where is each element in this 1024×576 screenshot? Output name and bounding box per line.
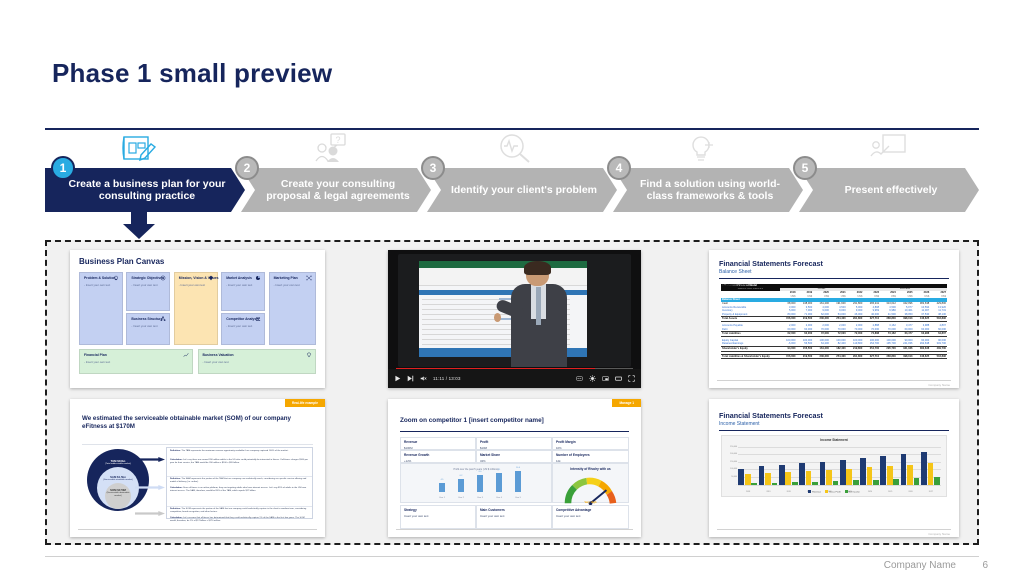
chart-bar	[901, 454, 907, 485]
chart-legend-item: Gross Profit	[825, 490, 841, 494]
balance-sheet-footer: Company Name	[928, 383, 950, 387]
chart-bar	[928, 463, 934, 485]
balance-sheet-divider	[719, 278, 949, 279]
video-wall	[398, 254, 631, 367]
chart-bar	[812, 482, 818, 485]
settings-icon[interactable]	[589, 375, 596, 382]
chart-bar	[738, 469, 744, 485]
competitor-gauge: Intensity of Rivalry with us Very High	[552, 463, 629, 503]
process-step-4-label: Find a solution using world-class framew…	[631, 178, 789, 203]
som-def-5: Definition: The SOM represents the porti…	[170, 508, 309, 514]
chart-y-tick: 150,000	[730, 461, 737, 463]
bpc-grid: Problem & Solution - Insert your own tex…	[79, 272, 316, 374]
video-timestamp: 11:11 / 13:03	[433, 376, 461, 381]
chart-bar	[772, 483, 778, 485]
som-title: We estimated the serviceable obtainable …	[82, 415, 311, 431]
chart-bar	[785, 472, 791, 485]
bpc-card-business-valuation[interactable]: Business Valuation - Insert your own tex…	[198, 349, 317, 375]
balance-sheet-table: 3 Statement Financial ModelBalance sheet…	[721, 284, 947, 359]
chart-bar	[880, 456, 886, 485]
chart-bar-group: 2021	[799, 447, 819, 485]
chart-title: Income Statement	[722, 438, 946, 442]
bpc-card-strategic-objectives[interactable]: Strategic Objectives - Insert your own t…	[126, 272, 170, 311]
process-bar: Create a business plan for your consulti…	[45, 168, 979, 212]
chart-legend-item: Revenue	[808, 490, 821, 494]
som-def-2: Calculation: Let's say there are around …	[170, 459, 309, 465]
process-step-4[interactable]: Find a solution using world-class framew…	[613, 168, 803, 212]
chart-bar	[853, 480, 859, 485]
process-step-2-label: Create your consulting proposal & legal …	[259, 178, 417, 203]
chart-bar	[779, 465, 785, 485]
network-icon	[306, 275, 312, 281]
chart-bar	[887, 466, 893, 485]
chart-bar	[799, 463, 805, 485]
arrow-som-icon	[132, 511, 168, 516]
chart-bar-group: 2025	[880, 447, 900, 485]
chart-bar-group: 2020	[779, 447, 799, 485]
balance-sheet-subtitle: Balance Sheet	[719, 269, 752, 275]
note-competitive-advantage: Competitive Advantage Insert your own te…	[552, 505, 629, 529]
note-main-customers: Main Customers Insert your own text	[476, 505, 552, 529]
bpc-card-marketing-plan[interactable]: Marketing Plan - Insert your own text	[269, 272, 316, 345]
chart-bar	[820, 462, 826, 485]
chart-legend: RevenueGross ProfitNet Income	[722, 490, 946, 494]
footer-company-name: Company Name	[884, 560, 956, 571]
chart-bar	[759, 466, 765, 485]
presenter-figure	[508, 263, 571, 367]
org-chart-icon	[160, 316, 166, 322]
competitor-bar-label: Year 1	[436, 497, 448, 499]
som-tag: Real-life example	[285, 399, 325, 407]
process-step-5-label: Present effectively	[845, 184, 938, 197]
title-divider	[45, 128, 979, 130]
competitor-bar-label: Year 3	[474, 497, 486, 499]
chart-y-tick: 250,000	[730, 446, 737, 448]
footer-divider	[45, 556, 979, 557]
table-row: Shareholder's Equity	[721, 284, 769, 359]
line-chart-icon	[183, 352, 189, 358]
people-question-icon: ?	[313, 132, 349, 164]
arrow-sam-icon	[132, 485, 168, 490]
competitor-bar-label: Year 5	[512, 497, 524, 499]
income-statement-title: Financial Statements Forecast	[719, 411, 823, 420]
arrow-tam-icon	[132, 457, 168, 462]
chart-bar	[792, 482, 798, 485]
bpc-card-problem-solution[interactable]: Problem & Solution - Insert your own tex…	[79, 272, 123, 345]
video-frame[interactable]: 11:11 / 13:03	[388, 250, 641, 388]
process-step-3[interactable]: Identify your client's problem	[427, 168, 617, 212]
chart-bar	[833, 481, 839, 485]
metric-profit-margin: Profit Margin 10%	[552, 437, 629, 450]
chart-bar	[921, 452, 927, 485]
som-def-6: Calculation: Let's assume that eFitness …	[170, 517, 309, 523]
next-icon[interactable]	[407, 375, 414, 382]
gem-icon	[306, 352, 312, 358]
chart-bar	[751, 483, 757, 485]
competitor-bar: 10.0	[515, 471, 521, 492]
chart-y-tick: 100,000	[730, 468, 737, 470]
chart-bar-group: 2019	[758, 447, 778, 485]
process-step-3-label: Identify your client's problem	[451, 184, 597, 197]
bpc-card-business-structure[interactable]: Business Structure - Insert your own tex…	[126, 313, 170, 346]
chart-bar	[867, 467, 873, 485]
people-icon	[255, 316, 261, 322]
pie-chart-icon	[255, 275, 261, 281]
diamond-icon	[208, 275, 214, 281]
competitor-bar-label: Year 2	[455, 497, 467, 499]
fullscreen-icon[interactable]	[628, 375, 635, 382]
competitor-bar: 8.0	[477, 475, 483, 492]
som-def-1: Definition: The TAM represents the maxim…	[170, 450, 309, 453]
competitor-bar: 6.2	[458, 479, 464, 492]
page-title: Phase 1 small preview	[52, 58, 332, 89]
chart-y-tick: 200,000	[730, 453, 737, 455]
process-step-1[interactable]: Create a business plan for your consulti…	[45, 168, 245, 212]
chart-bar	[873, 480, 879, 485]
chart-bar-group: 2026	[900, 447, 920, 485]
chart-bar	[840, 460, 846, 485]
metric-revenue: Revenue $100M	[400, 437, 476, 450]
theater-icon[interactable]	[615, 375, 622, 382]
thumbnail-som-market-sizing[interactable]: Real-life example We estimated the servi…	[70, 399, 325, 537]
target-icon	[160, 275, 166, 281]
lightbulb-plug-icon	[683, 132, 719, 164]
metric-revenue-growth: Revenue Growth +12%	[400, 450, 476, 463]
preview-area: Business Plan Canvas Problem & Solution …	[45, 240, 979, 545]
chart-bar	[765, 473, 771, 485]
metric-market-share: Market Share 34%	[476, 450, 552, 463]
process-step-3-badge: 3	[421, 156, 445, 180]
ring-som: SOM $170M (Serviceable obtainable market…	[105, 483, 131, 509]
chart-bar-group: 2024	[860, 447, 880, 485]
bpc-card-competitor-analysis[interactable]: Competitor Analysis - Insert your own te…	[221, 313, 265, 346]
thumbnail-business-plan-canvas[interactable]: Business Plan Canvas Problem & Solution …	[70, 250, 325, 388]
svg-text:?: ?	[335, 135, 340, 145]
process-step-1-badge: 1	[51, 156, 75, 180]
chart-bar-group: 2023	[840, 447, 860, 485]
chart-bar	[860, 458, 866, 485]
metric-employees: Number of Employees 12k	[552, 450, 629, 463]
chart-bar	[826, 470, 832, 485]
balance-sheet-title: Financial Statements Forecast	[719, 259, 823, 268]
competitor-bar-label: Year 4	[493, 497, 505, 499]
bpc-card-mission-vision-values[interactable]: Mission, Vision & Values - Insert your o…	[174, 272, 218, 345]
bpc-title: Business Plan Canvas	[79, 257, 164, 266]
som-definitions: Definition: The TAM represents the maxim…	[166, 447, 313, 519]
competitor-profit-chart: Profit over the past 5 years (US $ milli…	[400, 463, 552, 503]
lightbulb-icon	[113, 275, 119, 281]
income-statement-footer: Company Name	[928, 532, 950, 536]
chart-bar	[806, 471, 812, 485]
subtitles-icon[interactable]	[576, 375, 583, 382]
process-step-1-label: Create a business plan for your consulti…	[63, 178, 231, 203]
chart-bar	[914, 478, 920, 485]
chart-bar	[934, 477, 940, 485]
chart-bar-group: 2022	[819, 447, 839, 485]
som-def-3: Definition: The SAM represents the porti…	[170, 478, 309, 484]
mute-icon[interactable]	[420, 375, 427, 382]
thumbnail-income-statement[interactable]: Financial Statements Forecast Income Sta…	[709, 399, 959, 537]
chart-bar-group: 2018	[738, 447, 758, 485]
chart-bar	[745, 474, 751, 485]
chart-bar-group: 2027	[921, 447, 941, 485]
process-step-5-badge: 5	[793, 156, 817, 180]
video-controls[interactable]: 11:11 / 13:03	[388, 369, 641, 388]
gauge-value-label: Very High	[553, 501, 628, 504]
bpc-card-market-analysis[interactable]: Market Analysis - Insert your own text	[221, 272, 265, 311]
competitor-bar: 4.5	[439, 483, 445, 492]
process-step-5[interactable]: Present effectively	[799, 168, 979, 212]
metric-profit: Profit $10M	[476, 437, 552, 450]
competitor-title: Zoom on competitor 1 [insert competitor …	[400, 417, 544, 424]
bpc-card-financial-plan[interactable]: Financial Plan - Insert your own text	[79, 349, 193, 375]
thumbnail-balance-sheet[interactable]: Financial Statements Forecast Balance Sh…	[709, 250, 959, 388]
gauge-title: Intensity of Rivalry with us	[553, 467, 628, 471]
miniplayer-icon[interactable]	[602, 375, 609, 382]
chart-bar	[907, 465, 913, 485]
magnifier-pulse-icon	[497, 132, 533, 164]
note-strategy: Strategy Insert your own text	[400, 505, 476, 529]
thumbnail-competitor-zoom[interactable]: Manage 1 Zoom on competitor 1 [insert co…	[388, 399, 641, 537]
process-step-4-badge: 4	[607, 156, 631, 180]
chart-y-tick: 50,000	[731, 476, 737, 478]
income-statement-chart: Income Statement -50,000100,000150,00020…	[721, 435, 947, 497]
chart-plot-area: -50,000100,000150,000200,000250,00020182…	[738, 447, 941, 485]
chart-legend-item: Net Income	[845, 490, 860, 494]
som-def-4: Calculation: Since eFitness is an online…	[170, 487, 309, 493]
chart-bar	[846, 469, 852, 485]
chart-y-tick: -	[736, 484, 737, 486]
competitor-bar: 9.1	[496, 473, 502, 492]
presenter-board-icon	[869, 132, 909, 164]
process-step-2[interactable]: Create your consulting proposal & legal …	[241, 168, 431, 212]
play-icon[interactable]	[394, 375, 401, 382]
process-step-2-badge: 2	[235, 156, 259, 180]
competitor-tag: Manage 1	[612, 399, 641, 407]
income-statement-subtitle: Income Statement	[719, 421, 760, 427]
footer-page-number: 6	[982, 560, 988, 571]
chart-bar	[893, 479, 899, 485]
blueprint-pencil-icon	[121, 132, 157, 164]
down-arrow-icon	[122, 208, 156, 240]
thumbnail-video-player[interactable]: 11:11 / 13:03	[388, 250, 641, 388]
